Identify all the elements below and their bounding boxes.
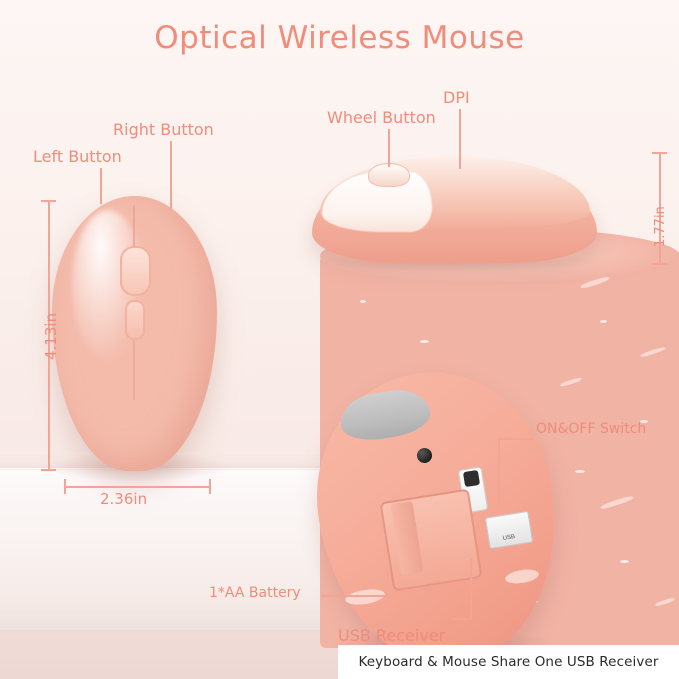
- annotation-on-off-switch: ON&OFF Switch: [536, 421, 646, 437]
- mouse-top-view-lower-seam: [133, 340, 135, 400]
- leader-wheel-button: [388, 129, 390, 167]
- mouse-top-view-scroll-wheel: [120, 246, 151, 296]
- mouse-bottom-view-power-switch-knob: [463, 470, 480, 487]
- dim-tick-width-left: [64, 479, 66, 494]
- dim-tick-thickness-bottom: [652, 263, 667, 265]
- leader-on-off-switch-v: [498, 438, 500, 506]
- annotation-dpi: DPI: [443, 88, 470, 107]
- annotation-usb-receiver: USB Receiver: [338, 626, 445, 645]
- mouse-bottom-view-usb-receiver: [485, 511, 533, 549]
- dim-tick-height-top: [41, 200, 56, 202]
- marble-speck: [360, 300, 366, 303]
- leader-usb-receiver-v: [470, 558, 472, 618]
- marble-speck: [420, 340, 429, 343]
- marble-speck: [575, 470, 585, 473]
- leader-aa-battery: [321, 595, 389, 597]
- leader-dpi: [459, 109, 461, 169]
- caption-bar: Keyboard & Mouse Share One USB Receiver: [338, 645, 679, 679]
- product-title: Optical Wireless Mouse: [0, 20, 679, 56]
- annotation-left-button: Left Button: [33, 147, 122, 166]
- shelf-surface: [0, 470, 335, 630]
- dim-tick-width-right: [209, 479, 211, 494]
- dim-line-width: [64, 486, 210, 488]
- dim-label-width: 2.36in: [100, 490, 147, 508]
- dim-tick-thickness-top: [652, 152, 667, 154]
- leader-right-button: [170, 141, 172, 209]
- dim-tick-height-bottom: [41, 469, 56, 471]
- annotation-right-button: Right Button: [113, 120, 214, 139]
- leader-usb-receiver-h: [452, 618, 472, 620]
- product-image: Optical Wireless Mouse USB Left Button R…: [0, 0, 679, 679]
- mouse-top-view-dpi-button: [125, 300, 145, 340]
- dim-label-height: 4.13in: [42, 313, 60, 360]
- marble-speck: [620, 560, 629, 563]
- annotation-wheel-button: Wheel Button: [327, 108, 436, 127]
- marble-speck: [600, 320, 607, 323]
- leader-left-button: [100, 168, 102, 204]
- leader-on-off-switch-h: [498, 438, 534, 440]
- annotation-aa-battery: 1*AA Battery: [209, 585, 301, 601]
- dim-label-thickness: 1.77in: [653, 206, 668, 247]
